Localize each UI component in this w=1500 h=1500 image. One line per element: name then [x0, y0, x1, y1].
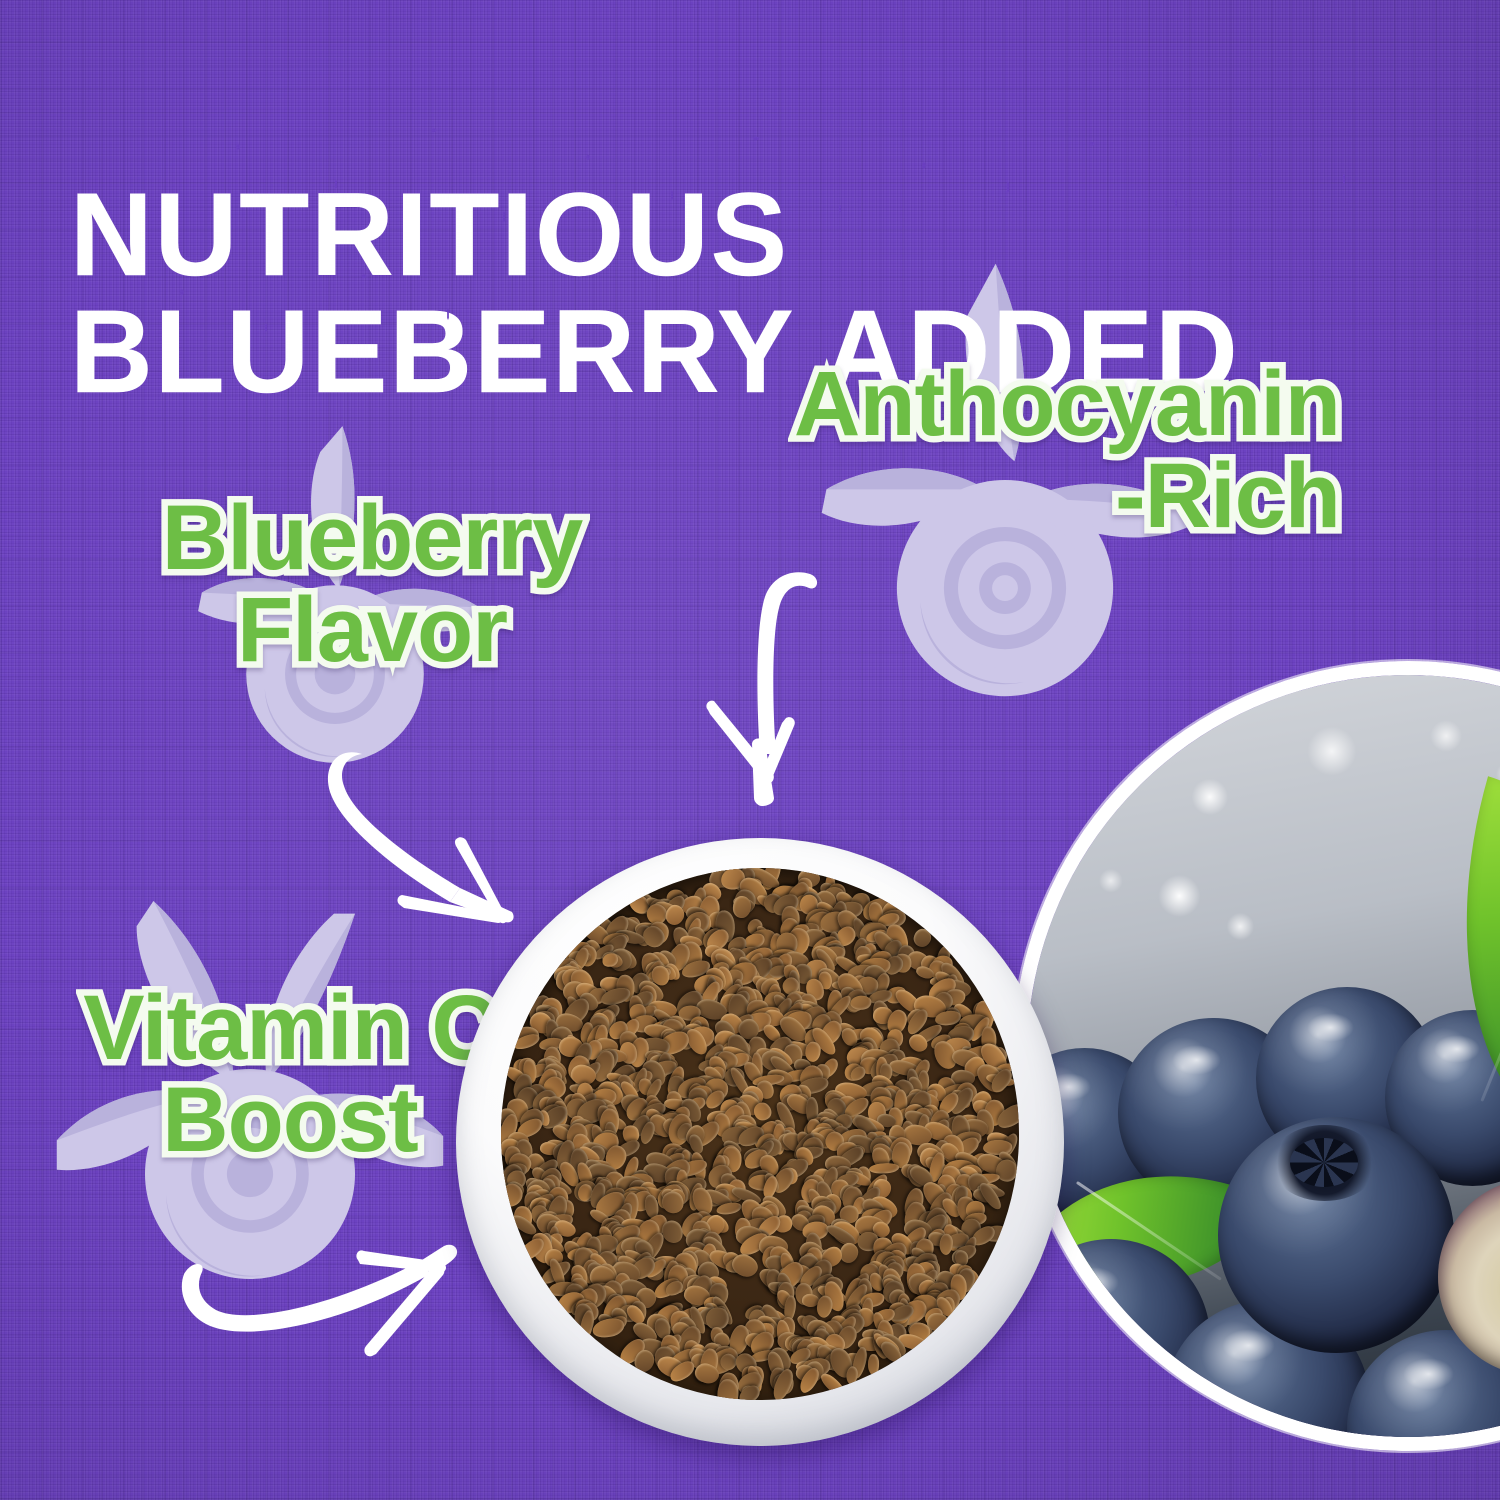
kibble-pellets — [501, 868, 1019, 1400]
kibble-pellet — [868, 1354, 879, 1375]
kibble-pellet — [590, 1316, 625, 1340]
kibble-pellet — [912, 927, 934, 949]
kibble-bowl-photo — [456, 838, 1064, 1446]
kibble-pellet — [869, 1162, 900, 1174]
blueberry-photo — [1027, 675, 1500, 1437]
feature-label-anthocyanin-rich: Anthocyanin -Rich — [640, 358, 1340, 542]
kibble-pellet — [850, 995, 872, 1010]
kibble-pellet — [732, 895, 751, 918]
kibble-pellet — [511, 1032, 540, 1052]
blueberry-photo-circle — [1013, 661, 1500, 1451]
bowl-interior — [501, 868, 1019, 1400]
feature-label-blueberry-flavor: Blueberry Flavor — [92, 492, 652, 676]
product-feature-poster: NUTRITIOUS BLUEBERRY ADDED Blueberry Fla… — [0, 0, 1500, 1500]
